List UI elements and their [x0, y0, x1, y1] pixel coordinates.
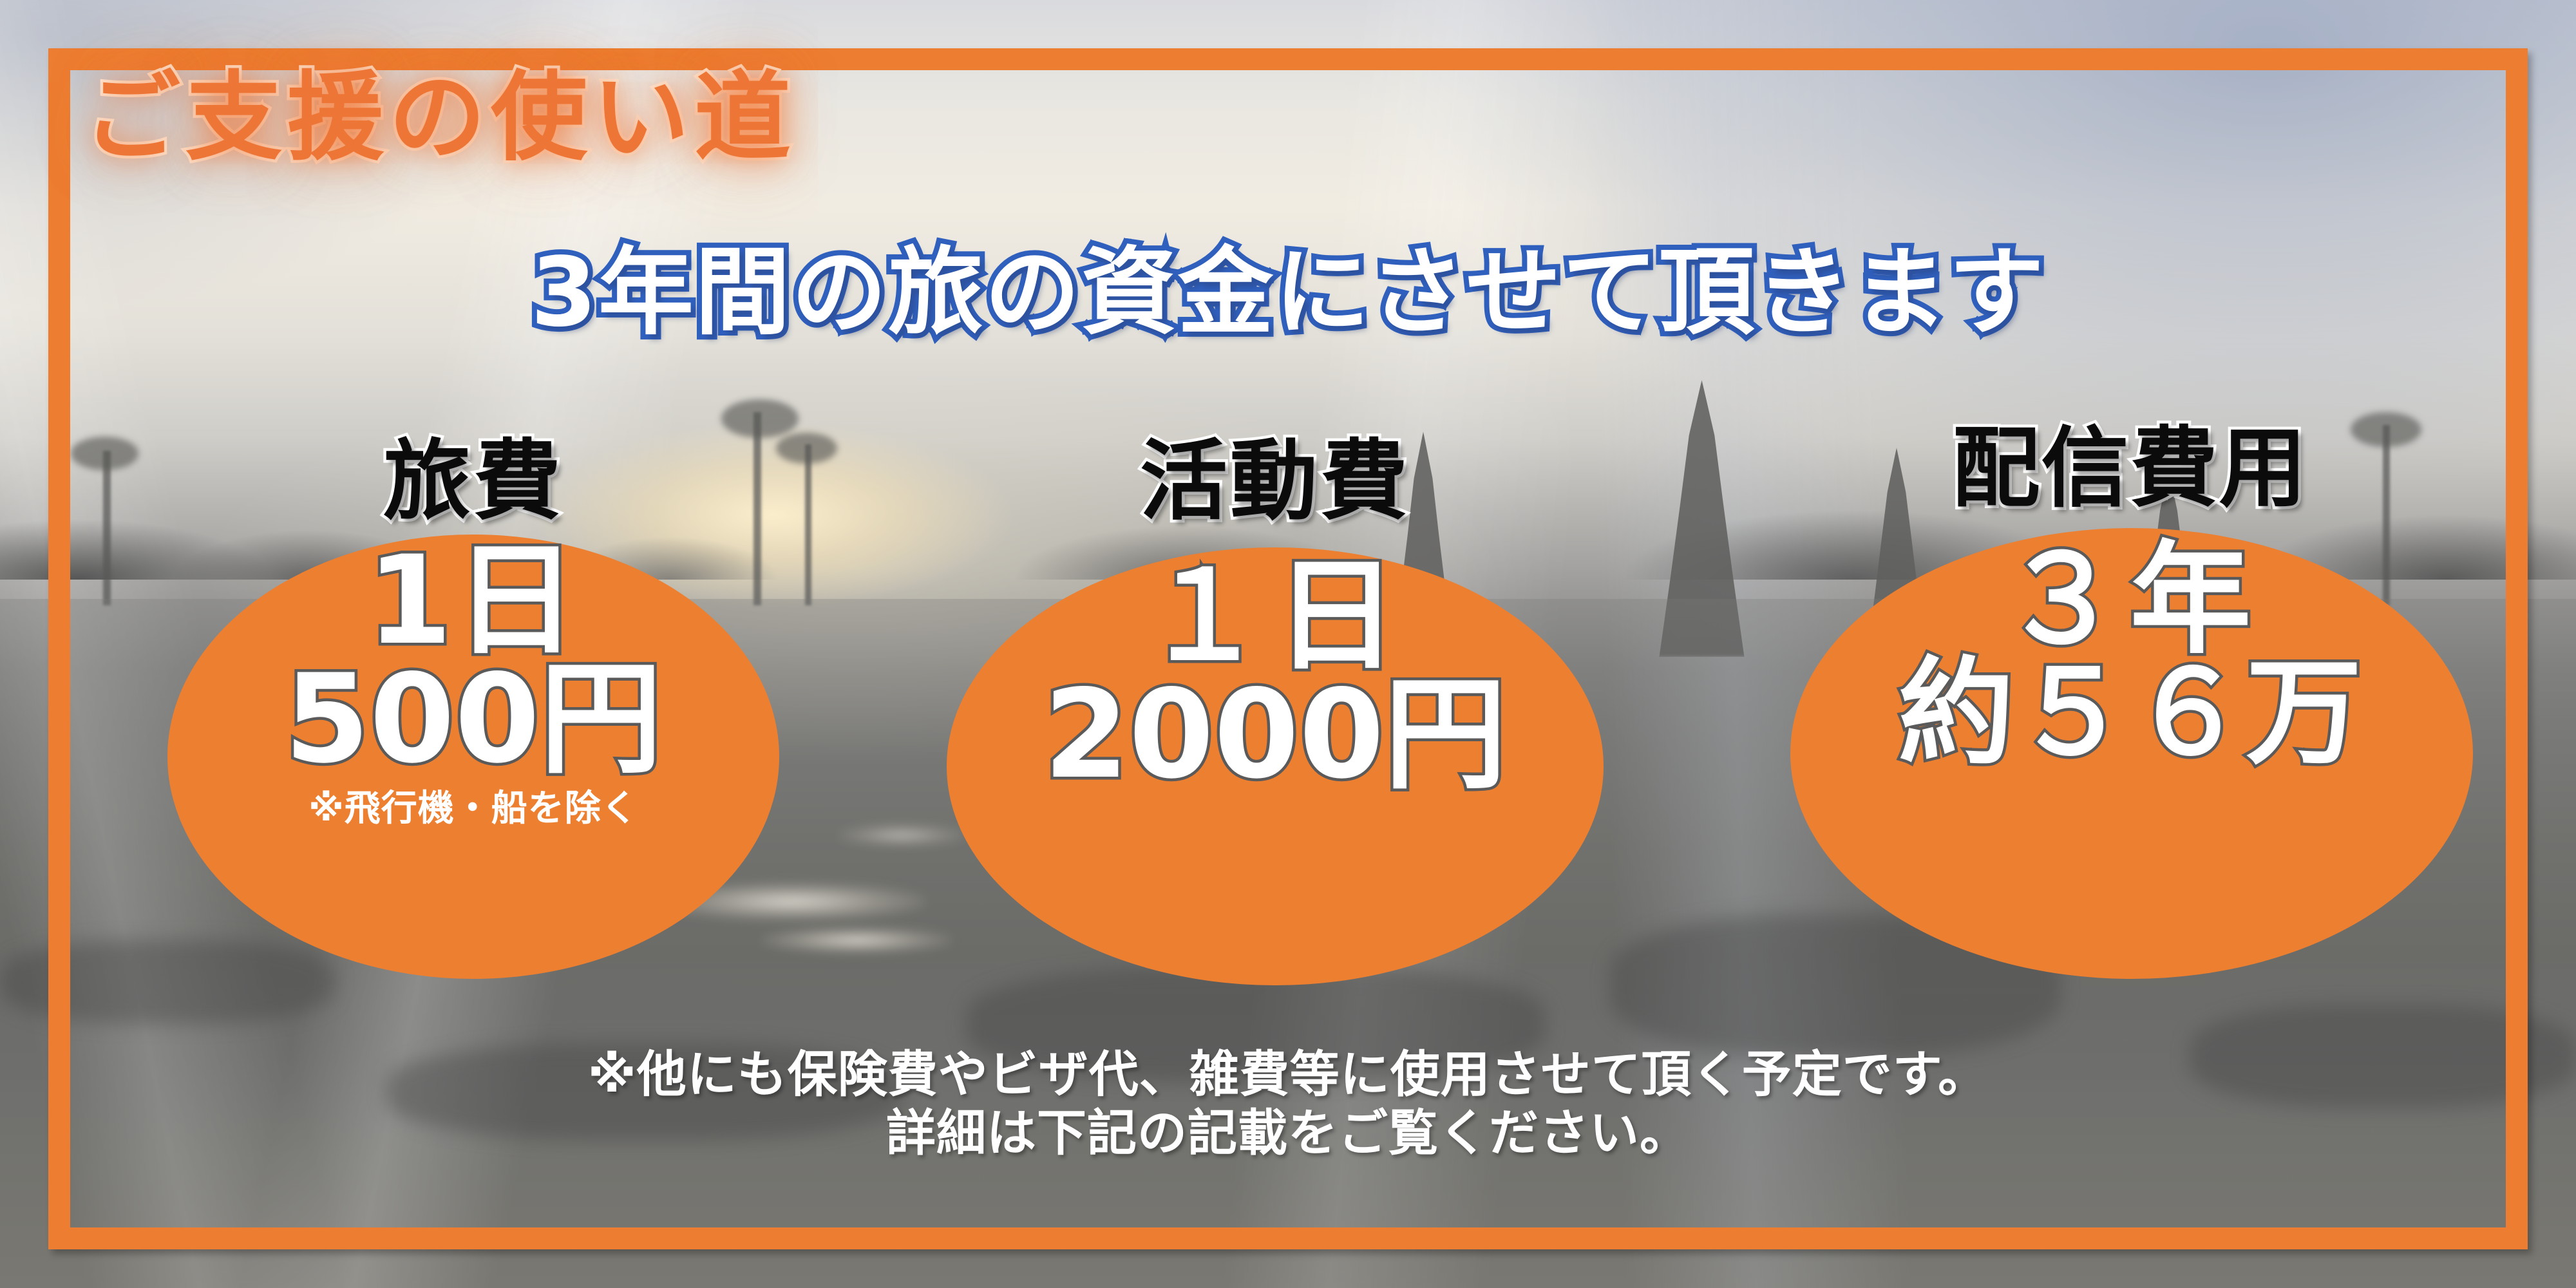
cost-card-amount: 2000円: [927, 674, 1623, 796]
cost-card-period: ３年: [1768, 540, 2492, 661]
cost-card-amount: 500円: [148, 658, 799, 781]
cost-card-travel: 旅費 1日 500円 ※飛行機・船を除く: [148, 438, 799, 979]
page-title: ご支援の使い道: [84, 70, 796, 166]
support-usage-banner: ご支援の使い道 3年間の旅の資金にさせて頂きます 旅費 1日 500円 ※飛行機…: [0, 0, 2576, 1288]
palm-fronds-icon: [71, 437, 138, 470]
cost-card-heading: 旅費: [148, 438, 799, 526]
footer-note-line-1: ※他にも保険費やビザ代、雑費等に使用させて頂く予定です。: [0, 1046, 2576, 1105]
cost-card-note: ※飛行機・船を除く: [148, 791, 799, 827]
footer-note-line-2: 詳細は下記の記載をご覧ください。: [0, 1105, 2576, 1164]
palm-tree-icon: [103, 451, 111, 605]
cost-card-period: １日: [927, 555, 1623, 677]
palm-fronds-icon: [721, 399, 799, 438]
footer-notes: ※他にも保険費やビザ代、雑費等に使用させて頂く予定です。 詳細は下記の記載をご覧…: [0, 1046, 2576, 1164]
cost-card-amount: 約５６万: [1768, 656, 2492, 772]
cost-card-heading: 活動費: [927, 438, 1623, 526]
cost-card-heading: 配信費用: [1768, 425, 2492, 513]
page-subtitle: 3年間の旅の資金にさせて頂きます: [0, 245, 2576, 340]
cost-card-streaming: 配信費用 ３年 約５６万: [1768, 425, 2492, 979]
cost-card-period: 1日: [148, 540, 799, 662]
palm-tree-icon: [805, 444, 811, 605]
cost-card-activity: 活動費 １日 2000円: [927, 438, 1623, 979]
